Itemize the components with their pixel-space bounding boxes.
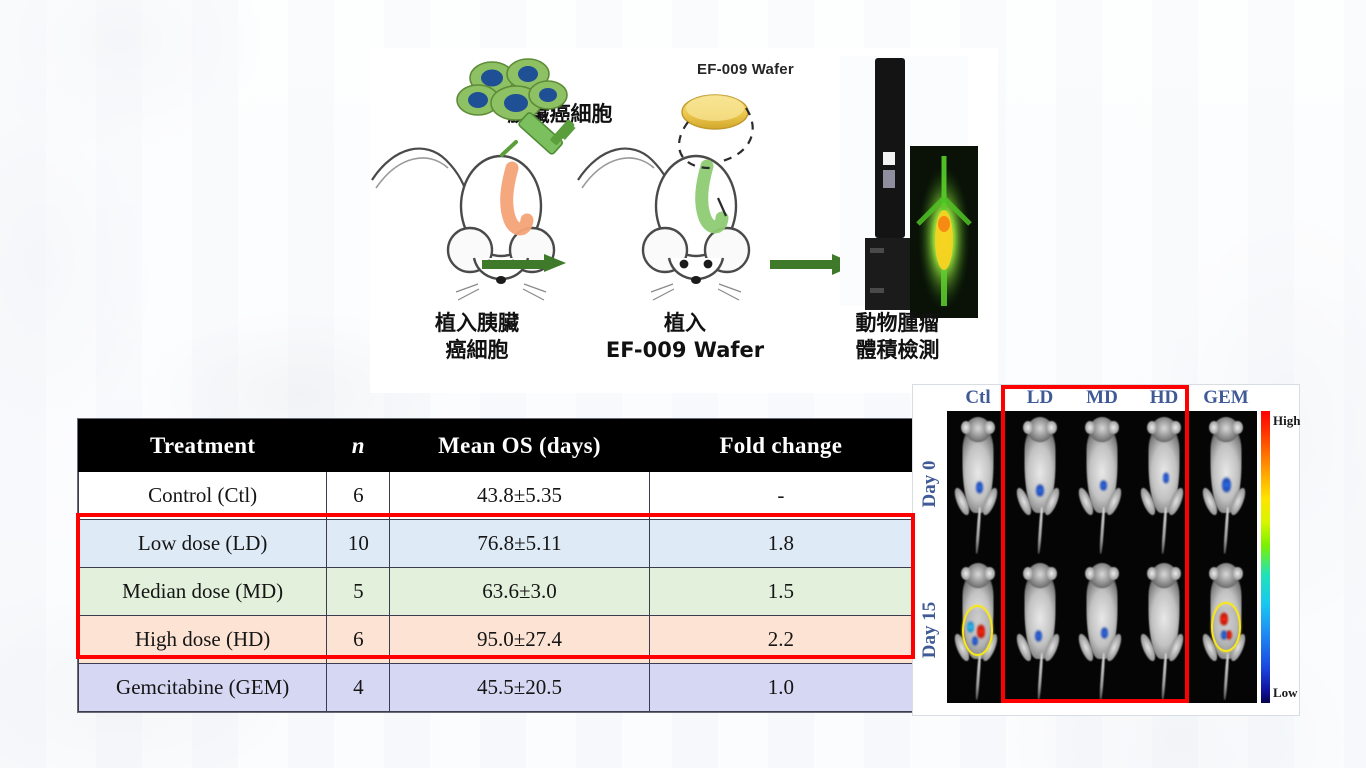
cell-mean-os: 76.8±5.11 (390, 520, 649, 568)
cell-fold-change: 1.0 (649, 664, 912, 712)
schematic-caption-3: 動物腫瘤 體積檢測 (800, 310, 995, 364)
imaging-cell-day15-ld (1009, 557, 1071, 703)
table-row: Control (Ctl) 6 43.8±5.35 - (79, 472, 913, 520)
wafer-icon (682, 95, 748, 129)
cell-mean-os: 63.6±3.0 (390, 568, 649, 616)
cell-n: 6 (327, 616, 390, 664)
cell-treatment: Median dose (MD) (79, 568, 327, 616)
cell-n: 4 (327, 664, 390, 712)
cell-treatment: Control (Ctl) (79, 472, 327, 520)
tumor-marker-ctl (962, 605, 993, 656)
cell-fold-change: 1.8 (649, 520, 912, 568)
column-header-mean-os: Mean OS (days) (390, 420, 649, 472)
cell-n: 6 (327, 472, 390, 520)
column-label-gem: GEM (1195, 385, 1257, 411)
tumor-marker-gem (1211, 602, 1241, 652)
imaging-column-headers: Ctl LD MD HD GEM (947, 385, 1257, 411)
experiment-schematic: EF-009 Wafer 胰臟癌細胞 (370, 48, 998, 393)
imaging-row-axis: Day 0 Day 15 (913, 413, 947, 703)
imaging-cell-day0-ctl (947, 411, 1009, 557)
imaging-cell-day0-gem (1195, 411, 1257, 557)
cell-mean-os: 43.8±5.35 (390, 472, 649, 520)
imaging-image-grid (947, 411, 1257, 703)
imaging-cell-day0-md (1071, 411, 1133, 557)
cancer-cell-cluster (457, 59, 567, 120)
imaging-cell-day15-ctl (947, 557, 1009, 703)
cell-mean-os: 45.5±20.5 (390, 664, 649, 712)
invivo-imaging-panel: Day 0 Day 15 Ctl LD MD HD GEM (913, 385, 1299, 715)
cell-fold-change: 1.5 (649, 568, 912, 616)
column-header-treatment: Treatment (79, 420, 327, 472)
table-row: Low dose (LD) 10 76.8±5.11 1.8 (79, 520, 913, 568)
row-label-day-15: Day 15 (919, 591, 941, 669)
imaging-cell-day15-md (1071, 557, 1133, 703)
colorbar-label-low: Low (1273, 685, 1298, 701)
imaging-instrument (840, 56, 978, 340)
column-header-fold-change: Fold change (649, 420, 912, 472)
cell-n: 10 (327, 520, 390, 568)
colorbar-label-high: High (1273, 413, 1300, 429)
column-label-ctl: Ctl (947, 385, 1009, 411)
schematic-caption-2: 植入 EF-009 Wafer (570, 310, 800, 364)
column-label-ld: LD (1009, 385, 1071, 411)
cell-fold-change: 2.2 (649, 616, 912, 664)
cell-mean-os: 95.0±27.4 (390, 616, 649, 664)
cell-treatment: Low dose (LD) (79, 520, 327, 568)
table-header-row: Treatment n Mean OS (days) Fold change (79, 420, 913, 472)
column-label-hd: HD (1133, 385, 1195, 411)
mouse-implant-cells (372, 149, 554, 300)
cell-treatment: Gemcitabine (GEM) (79, 664, 327, 712)
imaging-cell-day0-hd (1133, 411, 1195, 557)
table-row: Gemcitabine (GEM) 4 45.5±20.5 1.0 (79, 664, 913, 712)
row-label-day-0: Day 0 (919, 445, 941, 523)
table-row: High dose (HD) 6 95.0±27.4 2.2 (79, 616, 913, 664)
imaging-cell-day15-gem (1195, 557, 1257, 703)
column-label-md: MD (1071, 385, 1133, 411)
cell-fold-change: - (649, 472, 912, 520)
column-header-n: n (327, 420, 390, 472)
imaging-cell-day15-hd (1133, 557, 1195, 703)
cell-treatment: High dose (HD) (79, 616, 327, 664)
table-row: Median dose (MD) 5 63.6±3.0 1.5 (79, 568, 913, 616)
cell-n: 5 (327, 568, 390, 616)
imaging-cell-day0-ld (1009, 411, 1071, 557)
survival-results-table: Treatment n Mean OS (days) Fold change C… (78, 419, 913, 712)
mouse-implant-wafer (578, 149, 749, 300)
schematic-caption-1: 植入胰臟 癌細胞 (382, 310, 572, 364)
signal-intensity-colorbar (1261, 411, 1270, 703)
